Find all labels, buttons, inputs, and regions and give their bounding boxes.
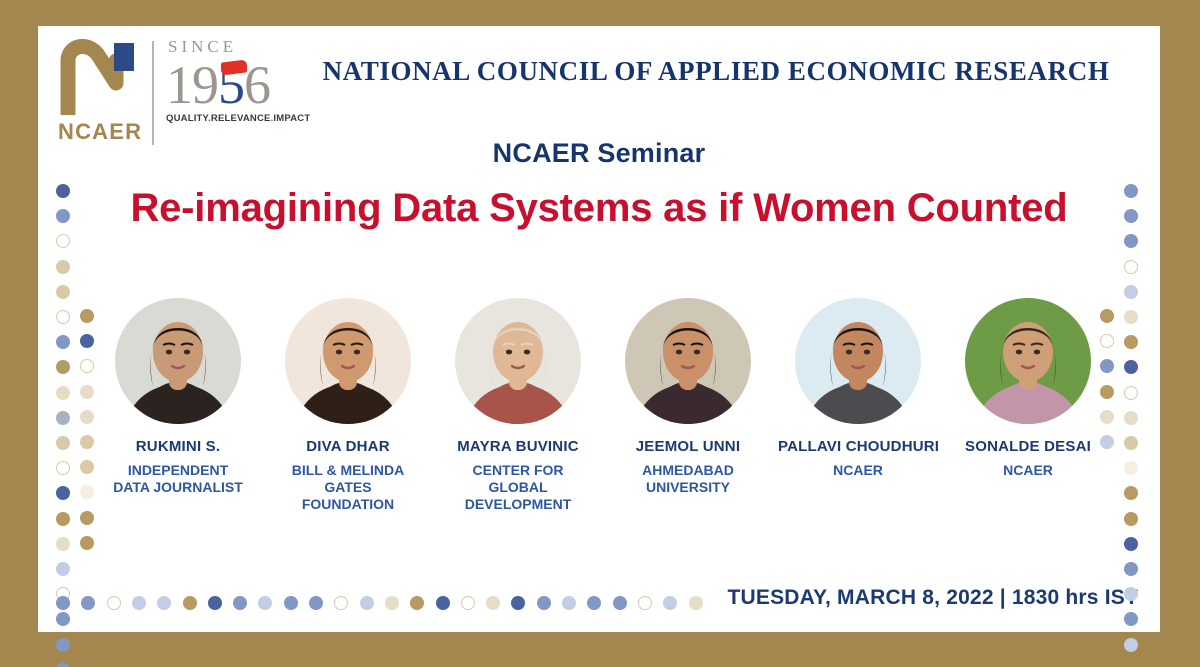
decorative-dot <box>587 596 601 610</box>
decorative-dot <box>56 461 70 475</box>
decorative-dot <box>56 260 70 274</box>
decorative-dot <box>80 309 94 323</box>
since-year: 1956 <box>166 57 286 113</box>
affiliation-line: AHMEDABAD <box>642 462 734 478</box>
decorative-dot <box>183 596 197 610</box>
speaker-name: JEEMOL UNNI <box>608 438 768 456</box>
decorative-dot <box>1124 562 1138 576</box>
affiliation-line: NCAER <box>833 462 883 478</box>
speaker-card: RUKMINI S.INDEPENDENTDATA JOURNALIST <box>98 298 258 496</box>
decorative-dot <box>80 385 94 399</box>
decorative-dot <box>663 596 677 610</box>
decorative-dot <box>1100 334 1114 348</box>
decorative-dot <box>1124 285 1138 299</box>
decorative-dot <box>56 537 70 551</box>
decorative-dot <box>1124 310 1138 324</box>
decorative-dot <box>56 360 70 374</box>
affiliation-line: BILL & MELINDA <box>292 462 405 478</box>
decorative-dot <box>1124 461 1138 475</box>
decorative-dot <box>511 596 525 610</box>
ncaer-logo: NCAER SINCE 1956 QUALITY.RELEVANCE.IMPAC… <box>52 35 282 147</box>
poster-root: NCAER SINCE 1956 QUALITY.RELEVANCE.IMPAC… <box>0 0 1200 667</box>
affiliation-line: DATA JOURNALIST <box>113 479 243 495</box>
speaker-list: RUKMINI S.INDEPENDENTDATA JOURNALIST DIV… <box>98 298 1108 513</box>
decorative-dot <box>56 436 70 450</box>
decorative-dot <box>1124 386 1138 400</box>
decorative-dot <box>284 596 298 610</box>
year-suffix: 6 <box>244 55 270 115</box>
seminar-label: NCAER Seminar <box>38 138 1160 169</box>
decorative-dot <box>132 596 146 610</box>
decorative-dot <box>80 511 94 525</box>
speaker-card: MAYRA BUVINICCENTER FORGLOBALDEVELOPMENT <box>438 298 598 513</box>
decorative-dot <box>56 310 70 324</box>
decorative-dot <box>80 460 94 474</box>
decorative-dot <box>1124 234 1138 248</box>
speaker-portrait <box>115 298 241 424</box>
decorative-dot <box>385 596 399 610</box>
decorative-dot <box>1124 411 1138 425</box>
decorative-dot <box>80 435 94 449</box>
speaker-portrait <box>455 298 581 424</box>
speaker-name: PALLAVI CHOUDHURI <box>778 438 938 456</box>
portrait-mayra-buvinic <box>455 298 581 424</box>
decorative-dot <box>56 234 70 248</box>
speaker-affiliation: INDEPENDENTDATA JOURNALIST <box>98 462 258 496</box>
decorative-dot <box>107 596 121 610</box>
decorative-dot <box>410 596 424 610</box>
decorative-dot <box>486 596 500 610</box>
decorative-dot <box>80 359 94 373</box>
portrait-sonalde-desai <box>965 298 1091 424</box>
decorative-dot <box>56 562 70 576</box>
decorative-dot <box>334 596 348 610</box>
decorative-dot <box>309 596 323 610</box>
decorative-dot <box>1124 537 1138 551</box>
decorative-dot <box>56 335 70 349</box>
decorative-dot <box>1100 410 1114 424</box>
decorative-dot <box>80 410 94 424</box>
decorative-dot <box>56 411 70 425</box>
decorative-dot <box>80 485 94 499</box>
affiliation-line: GATES <box>324 479 371 495</box>
decorative-dot <box>56 486 70 500</box>
decorative-dot <box>1100 385 1114 399</box>
speaker-card: JEEMOL UNNIAHMEDABADUNIVERSITY <box>608 298 768 496</box>
event-datetime: TUESDAY, MARCH 8, 2022 | 1830 hrs IST <box>728 586 1139 610</box>
decorative-dot <box>461 596 475 610</box>
decorative-dot <box>1124 335 1138 349</box>
since-label: SINCE <box>166 37 286 57</box>
decorative-dot <box>1124 612 1138 626</box>
speaker-portrait <box>795 298 921 424</box>
affiliation-line: INDEPENDENT <box>128 462 228 478</box>
decorative-dot <box>1100 359 1114 373</box>
affiliation-line: DEVELOPMENT <box>465 496 572 512</box>
decorative-dot <box>1124 436 1138 450</box>
decorative-dot <box>1124 260 1138 274</box>
portrait-jeemol-unni <box>625 298 751 424</box>
affiliation-line: CENTER FOR <box>473 462 564 478</box>
decorative-dot <box>56 638 70 652</box>
ncaer-logo-mark: NCAER <box>58 39 140 147</box>
since-block: SINCE 1956 QUALITY.RELEVANCE.IMPACT <box>166 37 286 124</box>
speaker-portrait <box>965 298 1091 424</box>
decorative-dot <box>258 596 272 610</box>
decorative-dot <box>613 596 627 610</box>
decorative-dot <box>1124 360 1138 374</box>
affiliation-line: NCAER <box>1003 462 1053 478</box>
tagline-impact: IMPACT <box>273 113 310 124</box>
speaker-affiliation: NCAER <box>948 462 1108 479</box>
decorative-dot <box>1124 638 1138 652</box>
decorative-dot <box>1100 309 1114 323</box>
year-prefix: 19 <box>166 55 218 115</box>
decorative-dot <box>157 596 171 610</box>
decorative-dot <box>638 596 652 610</box>
decorative-dot <box>80 536 94 550</box>
portrait-pallavi-choudhuri <box>795 298 921 424</box>
speaker-name: RUKMINI S. <box>98 438 258 456</box>
decorative-dot <box>537 596 551 610</box>
speaker-name: MAYRA BUVINIC <box>438 438 598 456</box>
poster-card: NCAER SINCE 1956 QUALITY.RELEVANCE.IMPAC… <box>38 26 1160 632</box>
speaker-card: PALLAVI CHOUDHURINCAER <box>778 298 938 479</box>
decorative-dot <box>233 596 247 610</box>
decorative-dot <box>436 596 450 610</box>
decorative-dot <box>1100 435 1114 449</box>
decorative-dot <box>562 596 576 610</box>
speaker-card: SONALDE DESAINCAER <box>948 298 1108 479</box>
decorative-dot <box>1124 486 1138 500</box>
organization-title: NATIONAL COUNCIL OF APPLIED ECONOMIC RES… <box>286 56 1146 87</box>
portrait-diva-dhar <box>285 298 411 424</box>
speaker-portrait <box>625 298 751 424</box>
decorative-dot <box>689 596 703 610</box>
decorative-dot <box>80 334 94 348</box>
decorative-dot <box>208 596 222 610</box>
decorative-dot <box>1124 512 1138 526</box>
decorative-dot <box>56 612 70 626</box>
portrait-rukmini-s <box>115 298 241 424</box>
speaker-portrait <box>285 298 411 424</box>
speaker-affiliation: NCAER <box>778 462 938 479</box>
affiliation-line: FOUNDATION <box>302 496 394 512</box>
decorative-dot <box>360 596 374 610</box>
speaker-affiliation: AHMEDABADUNIVERSITY <box>608 462 768 496</box>
decorative-dot <box>1124 184 1138 198</box>
logo-divider <box>152 41 154 145</box>
seminar-title: Re-imagining Data Systems as if Women Co… <box>38 186 1160 231</box>
decorative-dot <box>56 512 70 526</box>
speaker-name: DIVA DHAR <box>268 438 428 456</box>
decorative-dot <box>56 285 70 299</box>
affiliation-line: UNIVERSITY <box>646 479 730 495</box>
decorative-dot <box>56 663 70 667</box>
speaker-affiliation: CENTER FORGLOBALDEVELOPMENT <box>438 462 598 513</box>
speaker-affiliation: BILL & MELINDAGATESFOUNDATION <box>268 462 428 513</box>
decorative-dot <box>56 184 70 198</box>
decorative-dot <box>56 596 70 610</box>
decorative-dot <box>81 596 95 610</box>
logo-blue-square-icon <box>114 43 134 71</box>
speaker-name: SONALDE DESAI <box>948 438 1108 456</box>
decorative-dot <box>56 386 70 400</box>
speaker-card: DIVA DHARBILL & MELINDAGATESFOUNDATION <box>268 298 428 513</box>
affiliation-line: GLOBAL <box>488 479 547 495</box>
